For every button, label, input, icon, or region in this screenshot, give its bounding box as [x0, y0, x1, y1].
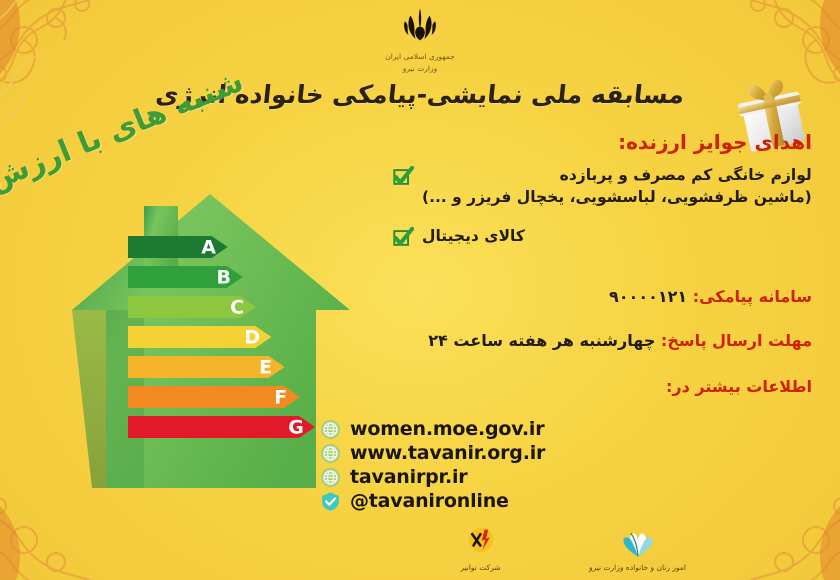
energy-bar-label-g: G [288, 417, 304, 439]
deadline-value: چهارشنبه هر هفته ساعت ۲۴ [428, 331, 655, 350]
sms-number: ۹۰۰۰۰۱۲۱ [609, 287, 687, 306]
sms-line: سامانه پیامکی: ۹۰۰۰۰۱۲۱ [392, 285, 812, 309]
deadline-line: مهلت ارسال پاسخ: چهارشنبه هر هفته ساعت ۲… [392, 329, 812, 353]
link-text: www.tavanir.org.ir [350, 442, 545, 464]
link-item[interactable]: women.moe.gov.ir [320, 418, 620, 440]
energy-bar-label-a: A [201, 237, 216, 259]
prize-1-line-2: (ماشین ظرفشویی، لباسشویی، یخچال فریزر و … [422, 186, 812, 208]
link-text: @tavanironline [350, 490, 509, 512]
energy-bar-label-f: F [274, 387, 287, 409]
verified-check-icon [320, 491, 341, 512]
green-check-icon [392, 227, 414, 249]
poster-canvas: جمهوری اسلامی ایران وزارت نیرو مسابقه مل… [0, 0, 840, 580]
logo-caption: شرکت توانیر [428, 563, 533, 572]
energy-bar-label-c: C [230, 297, 244, 319]
energy-bar-label-b: B [217, 267, 231, 289]
page-title: مسابقه ملی نمایشی-پیامکی خانواده انرژی [0, 80, 840, 109]
link-item[interactable]: www.tavanir.org.ir [320, 442, 620, 464]
more-info-block: اطلاعات بیشتر در: [392, 375, 812, 399]
prize-item: لوازم خانگی کم مصرف و پربازده (ماشین ظرف… [392, 164, 812, 209]
lotus-butterfly-icon [614, 526, 662, 558]
more-info-line: اطلاعات بیشتر در: [392, 375, 812, 399]
content-column: اهدای جوایز ارزنده: لوازم خانگی کم مصرف … [392, 130, 812, 399]
logo-caption: امور زنان و خانواده وزارت نیرو [585, 563, 690, 572]
logo-tavanir: شرکت توانیر [428, 526, 533, 572]
link-item[interactable]: tavanirpr.ir [320, 466, 620, 488]
tavanir-logo-icon [461, 526, 501, 558]
globe-icon [320, 467, 341, 488]
energy-bar-label-e: E [259, 357, 272, 379]
link-item[interactable]: @tavanironline [320, 490, 620, 512]
footer-logos: امور زنان و خانواده وزارت نیرو شرکت توان… [428, 526, 690, 572]
energy-label-house: ABCDEFG [58, 188, 358, 538]
prize-1-line-1: لوازم خانگی کم مصرف و پربازده [422, 164, 812, 186]
sms-label: سامانه پیامکی: [693, 287, 812, 306]
green-check-icon [392, 166, 414, 188]
emblem-line-2: وزارت نیرو [360, 63, 480, 74]
sms-block: سامانه پیامکی: ۹۰۰۰۰۱۲۱ [392, 285, 812, 309]
energy-bar-label-d: D [244, 327, 260, 349]
prizes-heading: اهدای جوایز ارزنده: [392, 130, 812, 154]
link-text: women.moe.gov.ir [350, 418, 544, 440]
emblem-line-1: جمهوری اسلامی ایران [360, 51, 480, 62]
globe-icon [320, 419, 341, 440]
ornament-bottom-right [672, 448, 840, 580]
energy-grade-bars: ABCDEFG [58, 188, 358, 538]
deadline-label: مهلت ارسال پاسخ: [661, 331, 812, 350]
energy-bar-g [128, 416, 315, 438]
links-list: women.moe.gov.ir www.tavanir.org.ir tava… [320, 418, 620, 514]
more-info-label: اطلاعات بیشتر در: [666, 377, 812, 396]
globe-icon [320, 443, 341, 464]
national-emblem: جمهوری اسلامی ایران وزارت نیرو [360, 6, 480, 75]
iran-emblem-icon [400, 6, 440, 46]
deadline-block: مهلت ارسال پاسخ: چهارشنبه هر هفته ساعت ۲… [392, 329, 812, 353]
prize-2-line-1: کالای دیجیتال [422, 225, 525, 247]
logo-women-family: امور زنان و خانواده وزارت نیرو [585, 526, 690, 572]
prize-item: کالای دیجیتال [392, 225, 812, 249]
link-text: tavanirpr.ir [350, 466, 467, 488]
